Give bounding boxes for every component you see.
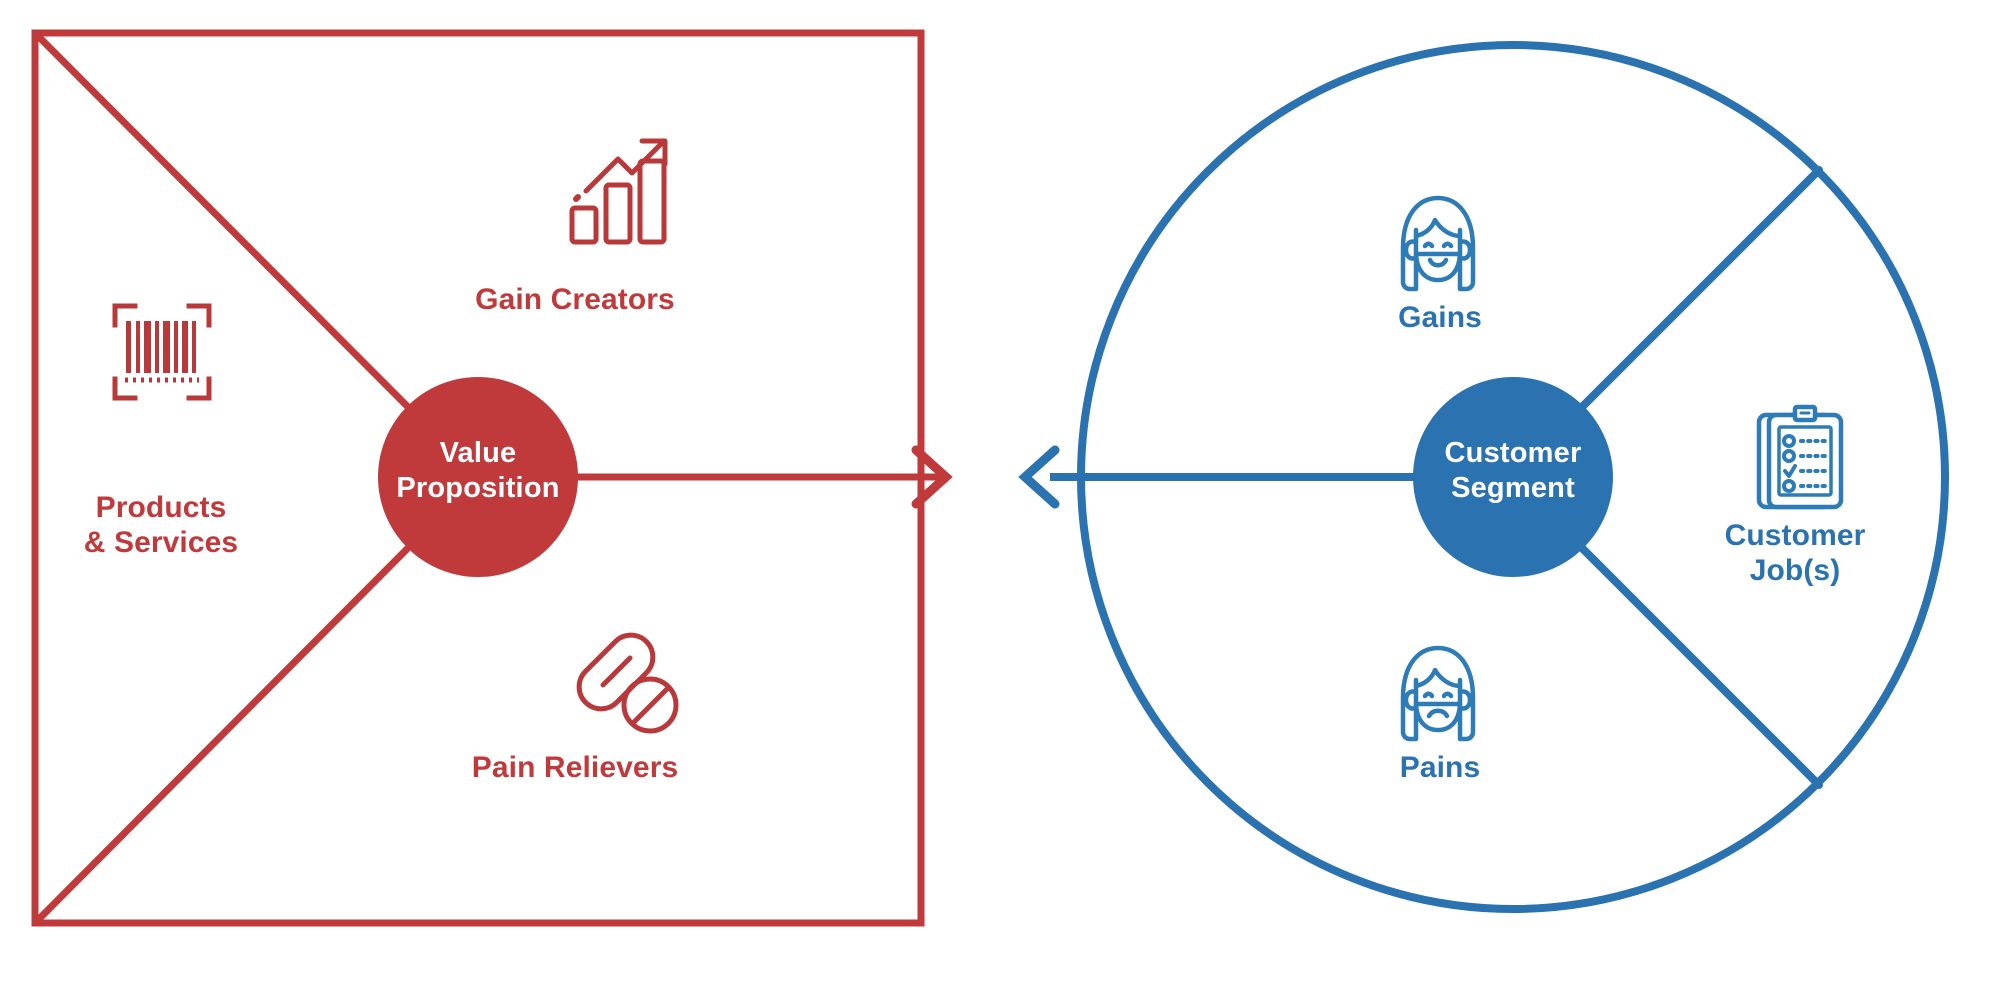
value-proposition-canvas-diagram: Value Proposition Gain Creators Products… [0, 0, 2000, 990]
label-pain-relievers: Pain Relievers [430, 750, 720, 785]
clipboard-checklist-icon [1759, 407, 1841, 507]
gains-text: Gains [1398, 301, 1482, 334]
cs-divider-upper-right [1583, 170, 1819, 406]
customer-jobs-line-2: Job(s) [1670, 553, 1920, 588]
value-proposition-center-label: Value Proposition [368, 436, 588, 506]
pills-icon [570, 626, 676, 731]
sad-face-icon [1403, 648, 1473, 739]
label-customer-jobs: Customer Job(s) [1670, 518, 1920, 589]
vp-center-line-1: Value [368, 436, 588, 471]
growth-bar-chart-icon [572, 141, 665, 242]
cs-center-line-1: Customer [1403, 436, 1623, 471]
barcode-icon [115, 306, 209, 398]
vp-center-line-2: Proposition [368, 471, 588, 506]
diagram-vector-layer [0, 0, 2000, 990]
products-services-line-1: Products [26, 490, 296, 525]
pain-relievers-text: Pain Relievers [472, 751, 679, 784]
products-services-line-2: & Services [26, 525, 296, 560]
cs-center-line-2: Segment [1403, 471, 1623, 506]
label-gains: Gains [1325, 300, 1555, 335]
customer-segment-center-label: Customer Segment [1403, 436, 1623, 506]
customer-jobs-line-1: Customer [1670, 518, 1920, 553]
happy-face-icon [1403, 198, 1473, 289]
label-pains: Pains [1325, 750, 1555, 785]
pains-text: Pains [1400, 751, 1481, 784]
vp-divider-top-left [38, 36, 407, 406]
label-gain-creators: Gain Creators [430, 282, 720, 317]
gain-creators-text: Gain Creators [475, 283, 675, 316]
label-products-services: Products & Services [26, 490, 296, 561]
vp-divider-bottom-left [38, 549, 407, 920]
